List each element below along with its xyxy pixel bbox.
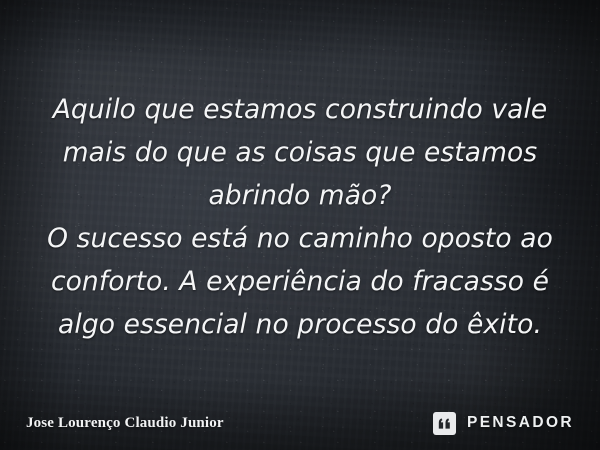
quote-line: abrindo mão? [22,174,578,217]
quote-author: Jose Lourenço Claudio Junior [26,415,224,432]
brand-name: PENSADOR [467,414,574,432]
brand-logo[interactable]: PENSADOR [433,412,574,435]
quote-line: Aquilo que estamos construindo vale [22,88,578,131]
quote-line: algo essencial no processo do êxito. [22,303,578,346]
quote-line: conforto. A experiência do fracasso é [22,260,578,303]
quotation-mark-icon [433,412,456,435]
quote-line: mais do que as coisas que estamos [22,131,578,174]
card-footer: Jose Lourenço Claudio Junior PENSADOR [0,396,600,450]
quote-text-block: Aquilo que estamos construindo vale mais… [0,88,600,346]
quote-line: O sucesso está no caminho oposto ao [22,217,578,260]
quote-card: Aquilo que estamos construindo vale mais… [0,0,600,450]
